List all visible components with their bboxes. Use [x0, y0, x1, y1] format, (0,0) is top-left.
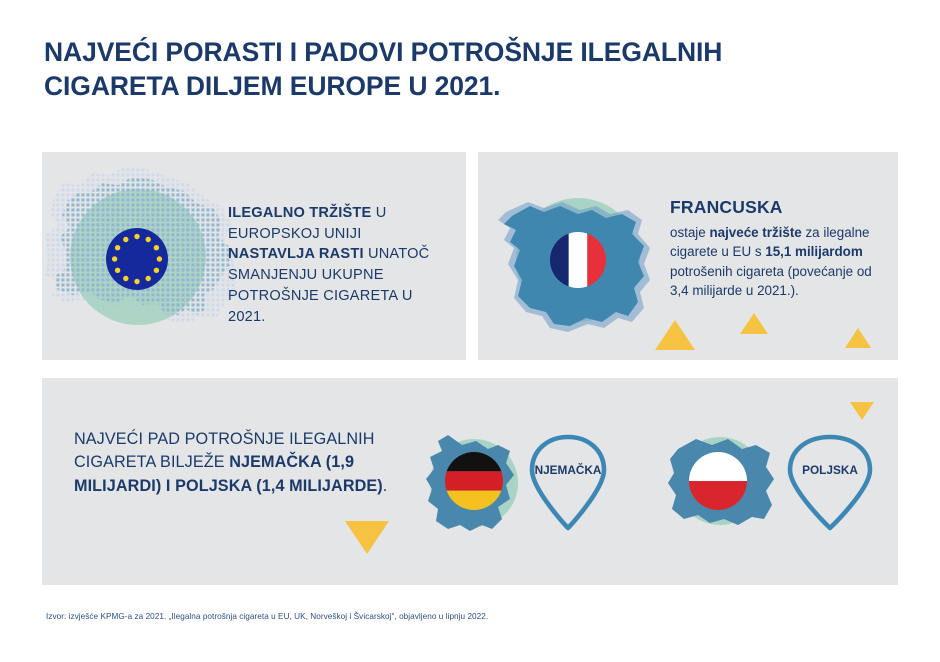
eu-card-text: ILEGALNO TRŽIŠTE U EUROPSKOJ UNIJI NASTA…: [228, 203, 443, 327]
eu-text-run-0: ILEGALNO TRŽIŠTE: [228, 205, 376, 221]
germany-map-with-flag-icon: [418, 427, 530, 537]
france-map-with-flag-icon: [492, 176, 662, 346]
eu-text-run-2: NASTAVLJA RASTI: [228, 246, 368, 262]
bottom-card-text: NAJVEĆI PAD POTROŠNJE ILEGALNIH CIGARETA…: [74, 428, 404, 498]
page-title-line-1: NAJVEĆI PORASTI I PADOVI POTROŠNJE ILEGA…: [44, 36, 804, 70]
source-footnote: Izvor: izvješće KPMG-a za 2021. „Ilegaln…: [46, 612, 488, 621]
bottom-text-run-2: .: [383, 477, 388, 495]
pin-label-poljska: POLJSKA: [802, 463, 858, 477]
page-title-line-2: CIGARETA DILJEM EUROPE U 2021.: [44, 70, 804, 104]
poland-map-with-flag-icon: [662, 427, 780, 535]
triangle-up-small-2-icon: [845, 328, 871, 348]
map-pin-njemacka-icon: NJEMAČKA: [524, 432, 612, 532]
infographic-root: NAJVEĆI PORASTI I PADOVI POTROŠNJE ILEGA…: [0, 0, 940, 662]
triangle-down-small-icon: [850, 402, 874, 420]
map-pin-poljska-icon: POLJSKA: [780, 432, 880, 532]
triangle-down-large-icon: [345, 521, 389, 554]
fr-text-run-3: 15,1 milijardom: [765, 244, 863, 259]
pin-label-njemacka: NJEMAČKA: [535, 463, 602, 477]
triangle-up-large-icon: [655, 320, 695, 350]
france-heading: FRANCUSKA: [670, 195, 892, 221]
fr-text-run-4: potrošenih cigareta (povećanje od 3,4 mi…: [670, 264, 872, 299]
france-card-text: FRANCUSKAostaje najveće tržište za ilega…: [670, 195, 892, 301]
fr-text-run-1: najveće tržište: [709, 225, 805, 240]
page-title: NAJVEĆI PORASTI I PADOVI POTROŠNJE ILEGA…: [44, 36, 804, 104]
fr-text-run-0: ostaje: [670, 225, 709, 240]
europe-dotted-map-with-eu-flag-icon: [46, 163, 236, 348]
triangle-up-small-icon: [740, 313, 768, 334]
